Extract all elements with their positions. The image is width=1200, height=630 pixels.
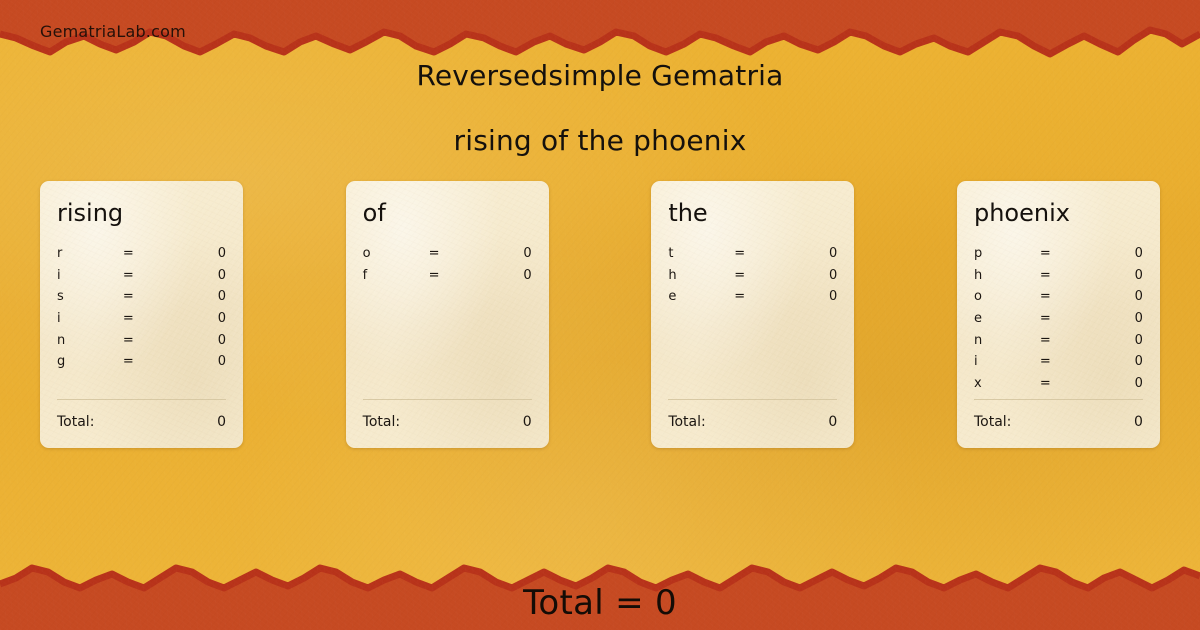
- equals-sign: =: [123, 354, 167, 369]
- card-divider: [974, 399, 1143, 400]
- letter-value: 0: [1084, 354, 1143, 369]
- word-card: risingr=0i=0s=0i=0n=0g=0Total:0: [40, 181, 243, 448]
- letter-value: 0: [167, 268, 226, 283]
- letter-row: i=0: [974, 354, 1143, 376]
- letter-row: e=0: [974, 311, 1143, 333]
- letter-glyph: o: [974, 289, 1040, 304]
- card-total-label: Total:: [363, 414, 400, 430]
- card-total-label: Total:: [668, 414, 705, 430]
- equals-sign: =: [1040, 333, 1084, 348]
- equals-sign: =: [1040, 289, 1084, 304]
- equals-sign: =: [123, 246, 167, 261]
- equals-sign: =: [123, 311, 167, 326]
- letter-row: t=0: [668, 246, 837, 268]
- letter-value: 0: [473, 268, 532, 283]
- card-divider: [363, 399, 532, 400]
- page-title: Reversedsimple Gematria: [0, 59, 1200, 92]
- word-card: phoenixp=0h=0o=0e=0n=0i=0x=0Total:0: [957, 181, 1160, 448]
- word-card: ofo=0f=0Total:0: [346, 181, 549, 448]
- letter-value-list: t=0h=0e=0: [668, 246, 837, 399]
- gematria-result-card: GematriaLab.com Reversedsimple Gematria …: [0, 0, 1200, 630]
- letter-value: 0: [778, 268, 837, 283]
- letter-value: 0: [778, 246, 837, 261]
- letter-row: s=0: [57, 289, 226, 311]
- letter-value: 0: [167, 289, 226, 304]
- letter-value: 0: [1084, 289, 1143, 304]
- letter-glyph: f: [363, 268, 429, 283]
- letter-value-list: r=0i=0s=0i=0n=0g=0: [57, 246, 226, 399]
- letter-row: n=0: [57, 333, 226, 355]
- letter-value: 0: [167, 354, 226, 369]
- equals-sign: =: [1040, 311, 1084, 326]
- card-total-row: Total:0: [974, 414, 1143, 448]
- equals-sign: =: [123, 268, 167, 283]
- letter-glyph: t: [668, 246, 734, 261]
- card-word-title: the: [668, 201, 837, 226]
- card-total-row: Total:0: [668, 414, 837, 448]
- letter-glyph: h: [974, 268, 1040, 283]
- letter-glyph: i: [974, 354, 1040, 369]
- letter-glyph: g: [57, 354, 123, 369]
- letter-value: 0: [778, 289, 837, 304]
- letter-row: o=0: [363, 246, 532, 268]
- letter-row: x=0: [974, 376, 1143, 398]
- equals-sign: =: [734, 246, 778, 261]
- letter-row: e=0: [668, 289, 837, 311]
- site-watermark: GematriaLab.com: [40, 22, 186, 41]
- letter-value: 0: [167, 246, 226, 261]
- card-word-title: rising: [57, 201, 226, 226]
- letter-glyph: o: [363, 246, 429, 261]
- card-total-value: 0: [828, 414, 837, 430]
- letter-glyph: r: [57, 246, 123, 261]
- letter-value: 0: [473, 246, 532, 261]
- equals-sign: =: [1040, 354, 1084, 369]
- letter-glyph: n: [974, 333, 1040, 348]
- letter-row: i=0: [57, 311, 226, 333]
- equals-sign: =: [734, 289, 778, 304]
- card-total-row: Total:0: [57, 414, 226, 448]
- card-word-title: of: [363, 201, 532, 226]
- letter-glyph: n: [57, 333, 123, 348]
- letter-row: n=0: [974, 333, 1143, 355]
- letter-row: r=0: [57, 246, 226, 268]
- letter-glyph: s: [57, 289, 123, 304]
- card-divider: [668, 399, 837, 400]
- letter-row: p=0: [974, 246, 1143, 268]
- card-total-value: 0: [217, 414, 226, 430]
- letter-value-list: o=0f=0: [363, 246, 532, 399]
- equals-sign: =: [1040, 376, 1084, 391]
- equals-sign: =: [429, 246, 473, 261]
- letter-row: h=0: [974, 268, 1143, 290]
- letter-value: 0: [1084, 311, 1143, 326]
- letter-glyph: i: [57, 311, 123, 326]
- letter-row: g=0: [57, 354, 226, 376]
- letter-row: f=0: [363, 268, 532, 290]
- card-total-label: Total:: [974, 414, 1011, 430]
- grand-total: Total = 0: [0, 583, 1200, 623]
- letter-row: i=0: [57, 268, 226, 290]
- letter-value: 0: [1084, 268, 1143, 283]
- letter-value-list: p=0h=0o=0e=0n=0i=0x=0: [974, 246, 1143, 399]
- letter-row: h=0: [668, 268, 837, 290]
- letter-value: 0: [1084, 376, 1143, 391]
- letter-glyph: h: [668, 268, 734, 283]
- card-total-label: Total:: [57, 414, 94, 430]
- equals-sign: =: [734, 268, 778, 283]
- letter-glyph: e: [668, 289, 734, 304]
- word-card-list: risingr=0i=0s=0i=0n=0g=0Total:0ofo=0f=0T…: [40, 181, 1160, 448]
- letter-glyph: x: [974, 376, 1040, 391]
- letter-value: 0: [1084, 246, 1143, 261]
- letter-glyph: i: [57, 268, 123, 283]
- letter-row: o=0: [974, 289, 1143, 311]
- card-divider: [57, 399, 226, 400]
- letter-value: 0: [1084, 333, 1143, 348]
- equals-sign: =: [1040, 268, 1084, 283]
- card-total-row: Total:0: [363, 414, 532, 448]
- word-card: thet=0h=0e=0Total:0: [651, 181, 854, 448]
- equals-sign: =: [123, 289, 167, 304]
- letter-value: 0: [167, 311, 226, 326]
- equals-sign: =: [123, 333, 167, 348]
- phrase-heading: rising of the phoenix: [0, 124, 1200, 157]
- letter-glyph: e: [974, 311, 1040, 326]
- letter-glyph: p: [974, 246, 1040, 261]
- letter-value: 0: [167, 333, 226, 348]
- equals-sign: =: [1040, 246, 1084, 261]
- card-word-title: phoenix: [974, 201, 1143, 226]
- card-total-value: 0: [1134, 414, 1143, 430]
- equals-sign: =: [429, 268, 473, 283]
- card-total-value: 0: [523, 414, 532, 430]
